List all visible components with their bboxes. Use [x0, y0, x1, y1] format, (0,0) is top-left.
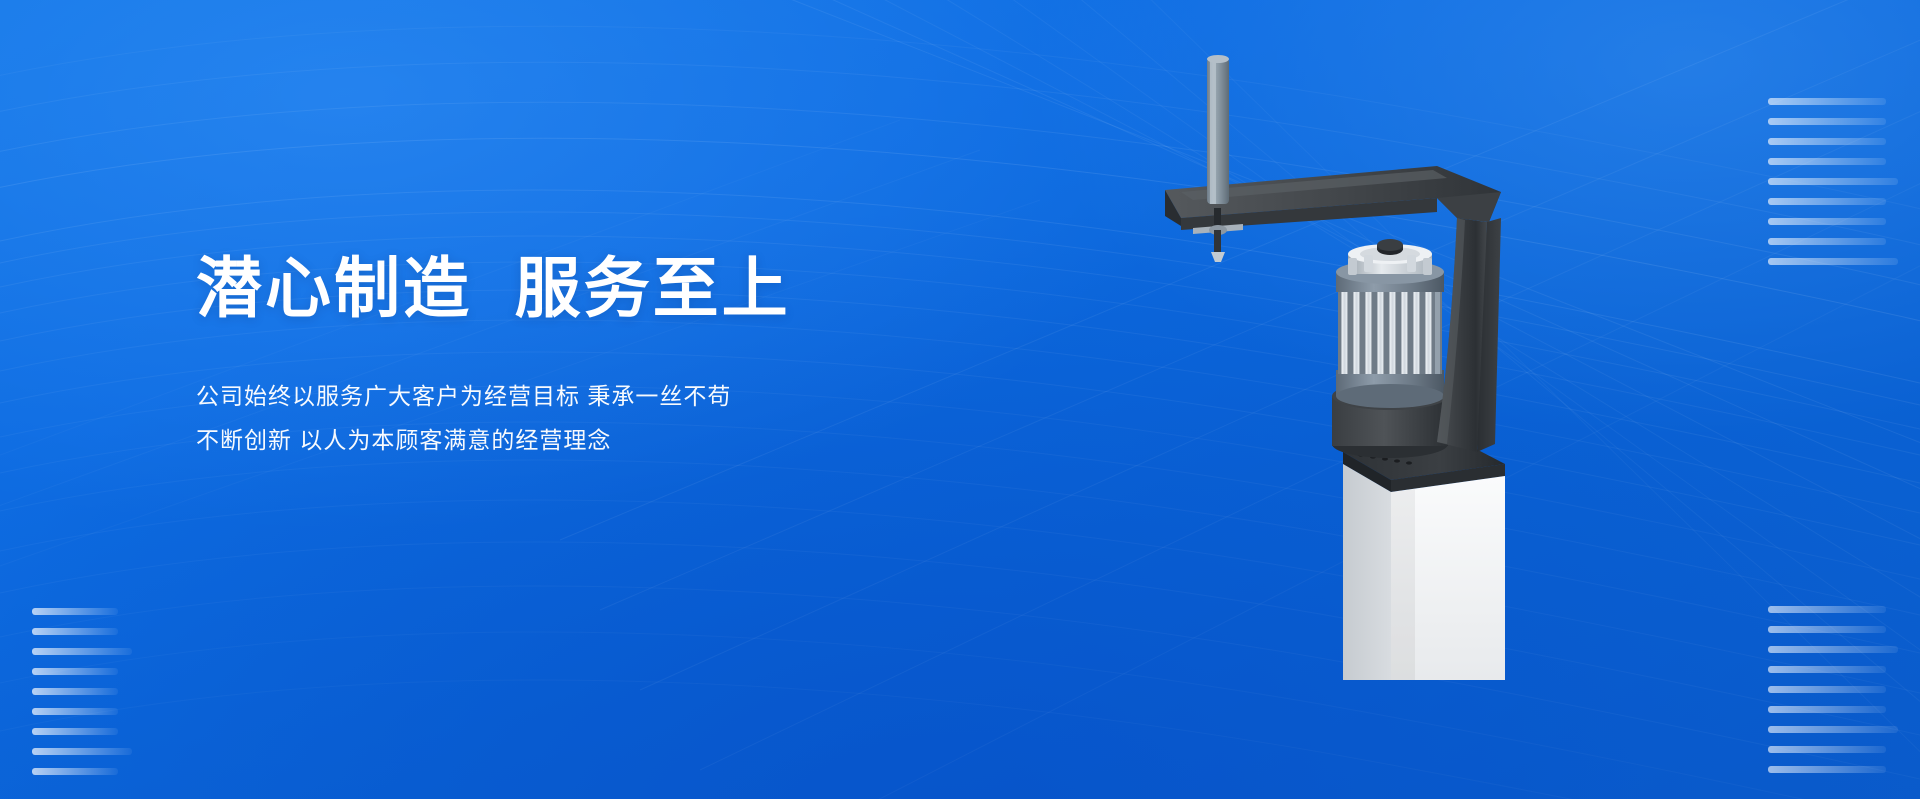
decor-bar: [1768, 766, 1886, 773]
decor-bars-left: [32, 608, 132, 775]
decor-bar: [1768, 258, 1898, 265]
decor-bar: [1768, 746, 1886, 753]
decor-bar: [32, 748, 132, 755]
decor-bar: [1768, 198, 1886, 205]
decor-bar: [1768, 706, 1886, 713]
decor-bar: [32, 608, 118, 615]
hero-copy: 潜心制造 服务至上 公司始终以服务广大客户为经营目标 秉承一丝不苟 不断创新 以…: [196, 252, 976, 462]
decor-bar: [1768, 118, 1886, 125]
decor-bar: [1768, 98, 1886, 105]
hero-subtitle: 公司始终以服务广大客户为经营目标 秉承一丝不苟 不断创新 以人为本顾客满意的经营…: [196, 374, 976, 462]
hero-subtitle-line-1: 公司始终以服务广大客户为经营目标 秉承一丝不苟: [196, 374, 976, 418]
decor-bar: [32, 768, 118, 775]
decor-bar: [32, 728, 118, 735]
decor-bar: [1768, 726, 1898, 733]
hero-subtitle-line-2: 不断创新 以人为本顾客满意的经营理念: [196, 418, 976, 462]
hero-headline: 潜心制造 服务至上: [196, 252, 976, 326]
machine-illustration: [1085, 40, 1505, 680]
decor-bar: [1768, 138, 1886, 145]
cabinet-base: [1343, 438, 1505, 680]
decor-bar: [1768, 626, 1886, 633]
decor-bar: [1768, 178, 1898, 185]
finned-motor-body: [1336, 239, 1444, 408]
decor-bar: [1768, 646, 1898, 653]
decor-bar: [32, 708, 118, 715]
decor-bar: [1768, 238, 1886, 245]
decor-bars-right: [1768, 98, 1898, 265]
decor-bar: [1768, 606, 1886, 613]
hero-banner: 潜心制造 服务至上 公司始终以服务广大客户为经营目标 秉承一丝不苟 不断创新 以…: [0, 0, 1920, 799]
decor-bar: [32, 648, 132, 655]
decor-bar: [32, 628, 118, 635]
decor-bar: [1768, 686, 1886, 693]
vertical-probe-rod: [1207, 55, 1229, 204]
decor-bar: [1768, 666, 1886, 673]
decor-bar: [1768, 218, 1886, 225]
decor-bar: [32, 668, 118, 675]
decor-bar: [32, 688, 118, 695]
decor-bars-bottom-right: [1768, 606, 1898, 773]
support-column: [1437, 218, 1501, 452]
cooling-fins: [1341, 288, 1440, 374]
decor-bar: [1768, 158, 1886, 165]
